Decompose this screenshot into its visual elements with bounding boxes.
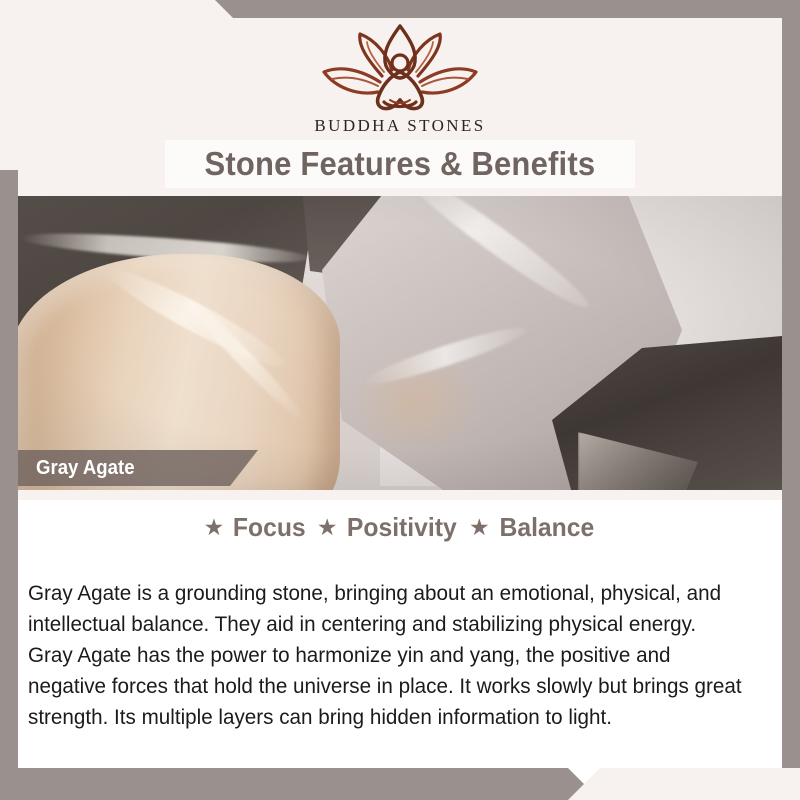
feature-item-balance: ★ Balance (469, 512, 596, 543)
feature-label: Balance (499, 512, 594, 543)
frame-bottom-bar (0, 768, 800, 800)
content-top-strip (18, 490, 782, 500)
feature-item-focus: ★ Focus (204, 512, 308, 543)
product-info-card: BUDDHA STONES Stone Features & Benefits … (0, 0, 800, 800)
title-banner: Stone Features & Benefits (165, 140, 635, 188)
brand-name: BUDDHA STONES (0, 116, 800, 136)
stone-name-tag: Gray Agate (0, 450, 258, 486)
brand-logo: BUDDHA STONES (0, 22, 800, 136)
stone-description: Gray Agate is a grounding stone, bringin… (28, 578, 746, 733)
page-title: Stone Features & Benefits (205, 145, 596, 183)
stone-name-label: Gray Agate (36, 457, 135, 480)
feature-label: Positivity (347, 512, 457, 543)
header-band: BUDDHA STONES Stone Features & Benefits (0, 0, 800, 196)
feature-item-positivity: ★ Positivity (317, 512, 460, 543)
feature-list: ★ Focus ★ Positivity ★ Balance (0, 512, 800, 543)
star-icon: ★ (317, 516, 338, 539)
photo-vignette (0, 196, 782, 490)
feature-label: Focus (233, 512, 306, 543)
content-panel: ★ Focus ★ Positivity ★ Balance Gray Agat… (0, 490, 800, 768)
star-icon: ★ (469, 516, 490, 539)
lotus-meditation-icon (318, 22, 482, 114)
frame-bottom-cream-wedge (568, 768, 800, 800)
stone-photo (0, 196, 782, 490)
star-icon: ★ (204, 516, 225, 539)
